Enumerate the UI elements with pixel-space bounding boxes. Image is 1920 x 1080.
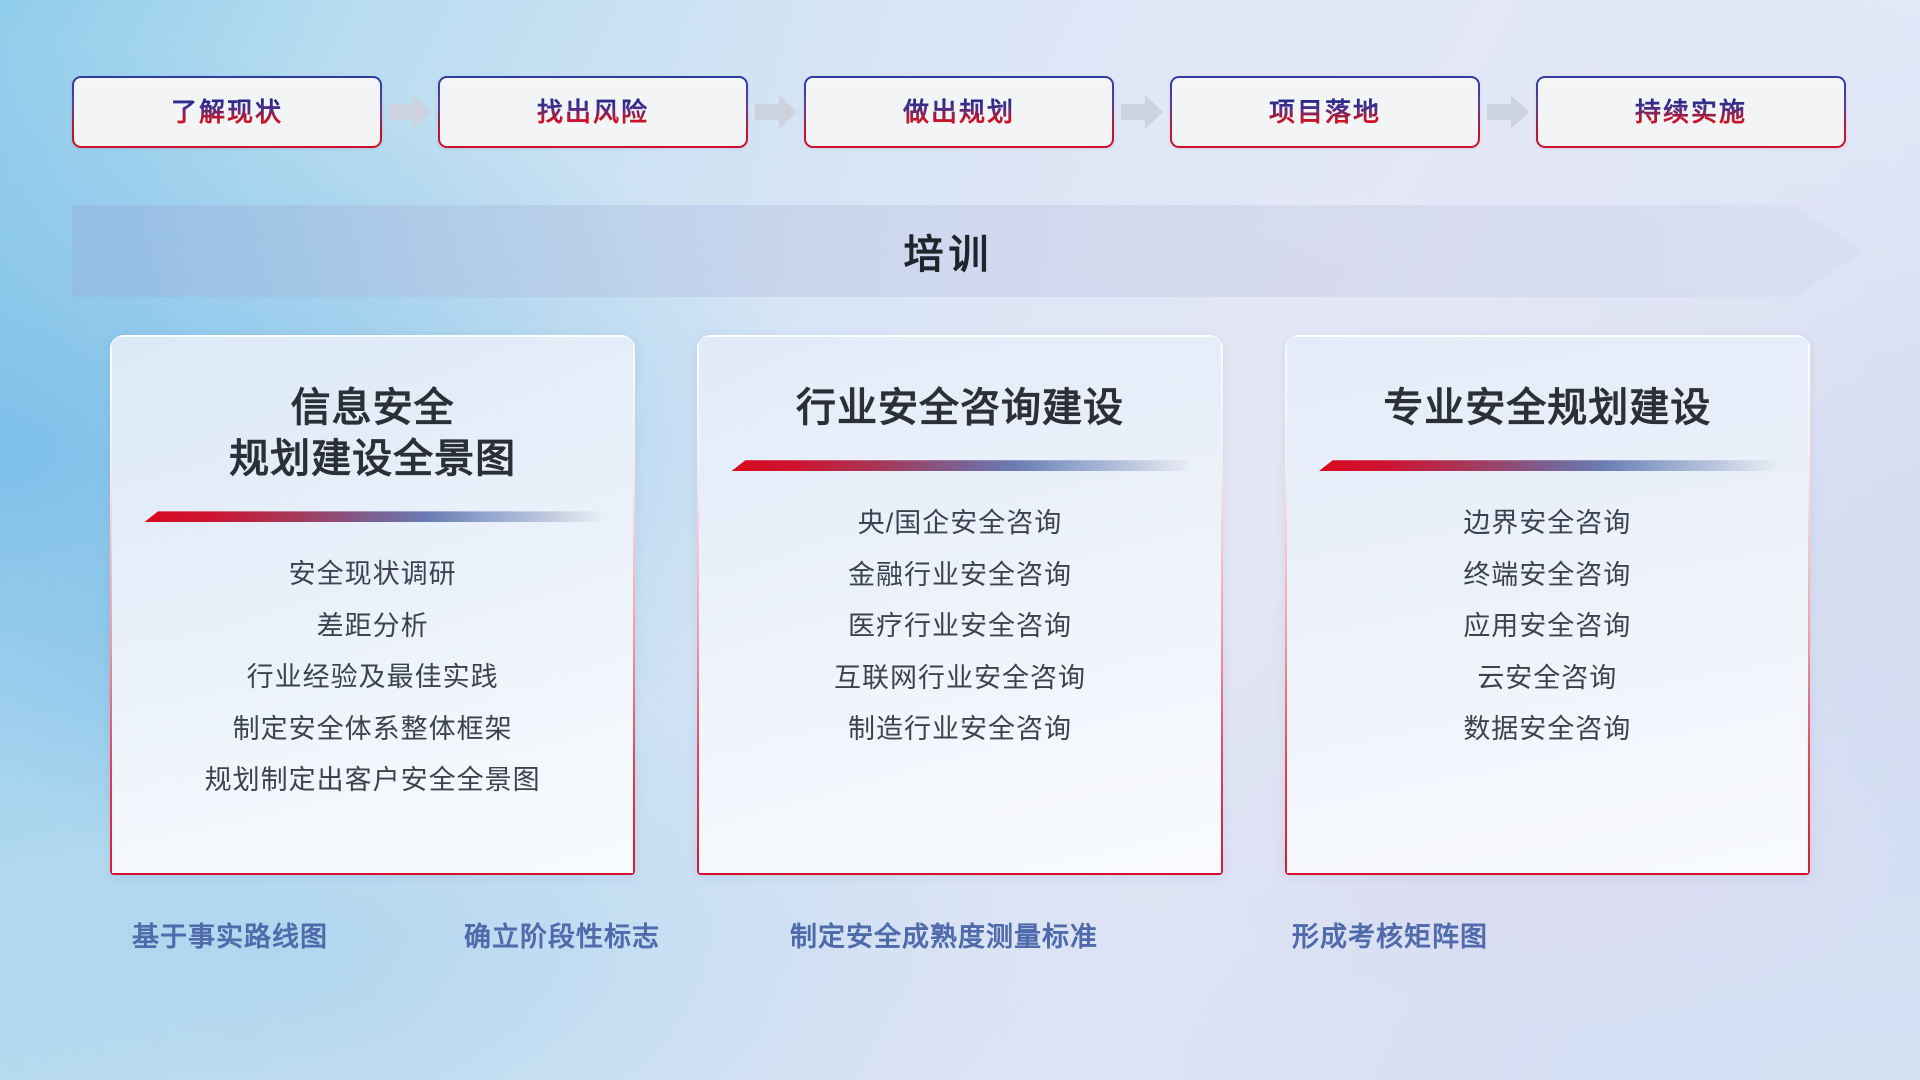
slide-canvas: 了解现状 找出风险 做出规划 项目落地 [0, 0, 1920, 1080]
card-title: 信息安全 规划建设全景图 [229, 383, 516, 485]
footer-caption-4: 形成考核矩阵图 [1292, 915, 1488, 954]
list-item: 应用安全咨询 [1463, 608, 1631, 644]
footer-caption-2: 确立阶段性标志 [464, 915, 660, 954]
pipeline-step-5[interactable]: 持续实施 [1536, 76, 1846, 148]
pipeline-step-4[interactable]: 项目落地 [1170, 76, 1480, 148]
card-list: 边界安全咨询 终端安全咨询 应用安全咨询 云安全咨询 数据安全咨询 [1463, 505, 1631, 747]
list-item: 金融行业安全咨询 [848, 557, 1072, 593]
card-list: 安全现状调研 差距分析 行业经验及最佳实践 制定安全体系整体框架 规划制定出客户… [205, 556, 541, 798]
pipeline-arrow-icon-4 [1480, 76, 1536, 148]
list-item: 制造行业安全咨询 [848, 711, 1072, 747]
list-item: 终端安全咨询 [1463, 557, 1631, 593]
list-item: 云安全咨询 [1477, 660, 1617, 696]
list-item: 行业经验及最佳实践 [247, 659, 499, 695]
card-deck: 信息安全 规划建设全景图 安全现状调研 差距分析 行业经验及最佳实践 制定安全体… [110, 335, 1810, 875]
pipeline-step-label: 持续实施 [1635, 98, 1747, 127]
pipeline-arrow-icon-3 [1114, 76, 1170, 148]
card-professional-security-planning[interactable]: 专业安全规划建设 边界安全咨询 终端安全咨询 应用安全咨询 云安全咨询 数据安全… [1285, 335, 1810, 875]
pipeline-step-label: 做出规划 [903, 98, 1015, 127]
footer-caption-3: 制定安全成熟度测量标准 [790, 915, 1098, 954]
pipeline-step-2[interactable]: 找出风险 [438, 76, 748, 148]
list-item: 数据安全咨询 [1463, 711, 1631, 747]
footer-captions: 基于事实路线图 确立阶段性标志 制定安全成熟度测量标准 形成考核矩阵图 [0, 915, 1920, 965]
list-item: 边界安全咨询 [1463, 505, 1631, 541]
card-industry-security-consulting[interactable]: 行业安全咨询建设 央/国企安全咨询 金融行业安全咨询 医疗行业安全咨询 互联网行… [697, 335, 1222, 875]
banner-title: 培训 [72, 205, 1865, 297]
card-title: 行业安全咨询建设 [796, 383, 1124, 434]
card-information-security-panorama[interactable]: 信息安全 规划建设全景图 安全现状调研 差距分析 行业经验及最佳实践 制定安全体… [110, 335, 635, 875]
card-divider [1319, 460, 1776, 471]
card-title: 专业安全规划建设 [1383, 383, 1711, 434]
process-pipeline: 了解现状 找出风险 做出规划 项目落地 [72, 76, 1862, 148]
pipeline-arrow-icon-2 [748, 76, 804, 148]
list-item: 医疗行业安全咨询 [848, 608, 1072, 644]
list-item: 央/国企安全咨询 [858, 505, 1063, 541]
footer-caption-1: 基于事实路线图 [132, 915, 328, 954]
pipeline-step-3[interactable]: 做出规划 [804, 76, 1114, 148]
pipeline-step-label: 找出风险 [537, 98, 649, 127]
pipeline-step-label: 了解现状 [171, 98, 283, 127]
card-divider [144, 511, 601, 522]
pipeline-arrow-icon-1 [382, 76, 438, 148]
list-item: 规划制定出客户安全全景图 [205, 762, 541, 798]
pipeline-step-label: 项目落地 [1269, 98, 1381, 127]
list-item: 安全现状调研 [289, 556, 457, 592]
pipeline-step-1[interactable]: 了解现状 [72, 76, 382, 148]
list-item: 差距分析 [317, 608, 429, 644]
list-item: 制定安全体系整体框架 [233, 711, 513, 747]
card-list: 央/国企安全咨询 金融行业安全咨询 医疗行业安全咨询 互联网行业安全咨询 制造行… [834, 505, 1086, 747]
training-banner: 培训 [72, 205, 1865, 297]
card-divider [731, 460, 1188, 471]
list-item: 互联网行业安全咨询 [834, 660, 1086, 696]
